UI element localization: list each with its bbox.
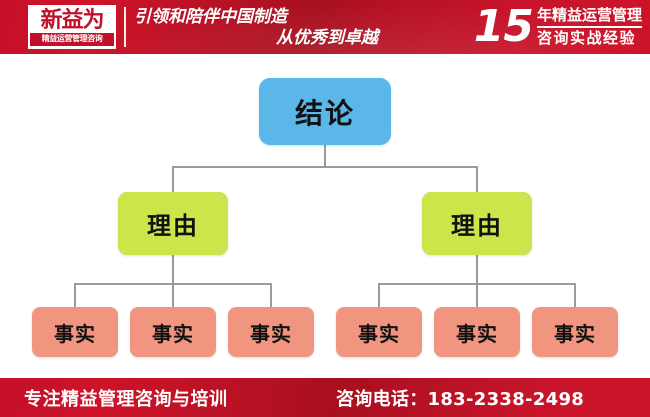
page-header: 新益为 精益运营管理咨询 引领和陪伴中国制造 从优秀到卓越 15 年精益运营管理… xyxy=(0,0,650,54)
node-reason-left[interactable]: 理由 xyxy=(118,192,228,255)
conn-reason-left-stem xyxy=(172,255,174,283)
header-slogan: 引领和陪伴中国制造 从优秀到卓越 xyxy=(134,6,384,50)
header-vertical-divider xyxy=(124,7,126,47)
conn-conclusion-stem xyxy=(324,145,326,166)
conn-fact-1-drop xyxy=(74,283,76,307)
node-fact-2[interactable]: 事实 xyxy=(130,307,216,357)
conn-conclusion-bus xyxy=(172,166,477,168)
experience-caption-line-2: 咨询实战经验 xyxy=(537,29,642,48)
conn-fact-5-drop xyxy=(476,283,478,307)
conn-reason-right-stem xyxy=(476,255,478,283)
logo-tagline-bar: 精益运营管理咨询 xyxy=(30,33,114,44)
conn-reason-left-drop xyxy=(172,166,174,192)
company-logo[interactable]: 新益为 精益运营管理咨询 xyxy=(28,5,116,49)
node-reason-right[interactable]: 理由 xyxy=(422,192,532,255)
conn-fact-3-drop xyxy=(270,283,272,307)
footer-service-text: 专注精益管理咨询与培训 xyxy=(24,385,228,411)
slogan-line-1: 引领和陪伴中国制造 xyxy=(134,6,287,28)
footer-contact-phone: 咨询电话：183-2338-2498 xyxy=(336,385,584,411)
conn-fact-4-drop xyxy=(378,283,380,307)
experience-years-number: 15 xyxy=(474,5,537,49)
header-experience-badge: 15 年精益运营管理 咨询实战经验 xyxy=(474,1,642,53)
node-fact-3[interactable]: 事实 xyxy=(228,307,314,357)
node-fact-6[interactable]: 事实 xyxy=(532,307,618,357)
conn-fact-2-drop xyxy=(172,283,174,307)
pyramid-logic-tree-diagram: 结论理由理由事实事实事实事实事实事实 xyxy=(0,54,650,376)
conn-fact-6-drop xyxy=(574,283,576,307)
slogan-line-2: 从优秀到卓越 xyxy=(276,27,378,49)
experience-caption: 年精益运营管理 咨询实战经验 xyxy=(537,6,642,48)
experience-caption-rule xyxy=(537,26,642,28)
page-footer: 专注精益管理咨询与培训 咨询电话：183-2338-2498 xyxy=(0,378,650,417)
node-conclusion[interactable]: 结论 xyxy=(259,78,391,145)
logo-wordmark: 新益为 xyxy=(40,9,103,32)
logo-underline-rule xyxy=(30,44,114,46)
conn-reason-right-drop xyxy=(476,166,478,192)
experience-caption-line-1: 年精益运营管理 xyxy=(537,6,642,25)
node-fact-5[interactable]: 事实 xyxy=(434,307,520,357)
node-fact-4[interactable]: 事实 xyxy=(336,307,422,357)
logo-tagline: 精益运营管理咨询 xyxy=(30,33,114,44)
node-fact-1[interactable]: 事实 xyxy=(32,307,118,357)
